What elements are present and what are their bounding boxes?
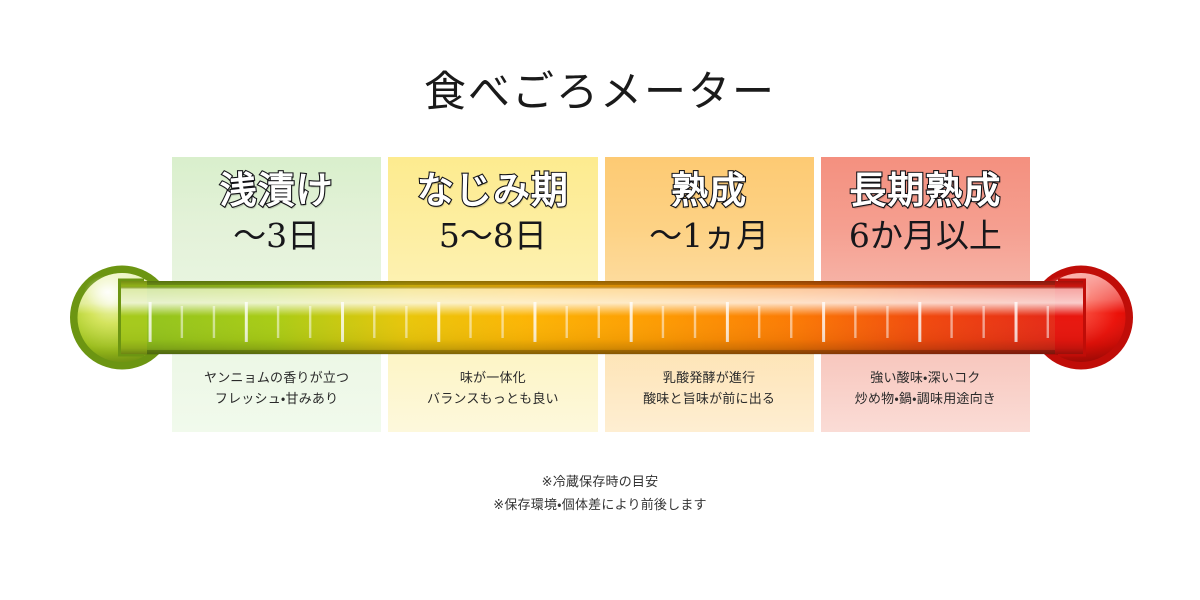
stage-description-line1: 強い酸味・深いコク: [821, 368, 1030, 389]
tube-right-neck: [1055, 279, 1086, 357]
thermometer-right-bulb: [1029, 266, 1133, 370]
stage-duration: ～1ヵ月: [605, 218, 814, 255]
stage-panel-jukusei: 熟成 ～1ヵ月 乳酸発酵が進行 酸味と旨味が前に出る: [605, 157, 814, 432]
stage-name: 浅漬け: [172, 169, 381, 213]
stage-panel-header: 熟成 ～1ヵ月: [605, 157, 814, 255]
stage-name: なじみ期: [388, 169, 597, 213]
stage-duration: 5～8日: [388, 218, 597, 255]
right-bulb-specular-highlight: [1043, 275, 1091, 309]
page-title: 食べごろメーター: [0, 58, 1200, 119]
footnotes: ※冷蔵保存時の目安 ※保存環境・個体差により前後します: [0, 472, 1200, 518]
stage-description-line1: ヤンニョムの香りが立つ: [172, 368, 381, 389]
infographic-root: 食べごろメーター 浅漬け ～3日 ヤンニョムの香りが立つ フレッシュ・甘みあり …: [0, 0, 1200, 600]
stage-description: 味が一体化 バランスもっとも良い: [388, 368, 597, 410]
stage-description-line2: フレッシュ・甘みあり: [172, 389, 381, 410]
stage-name: 熟成: [605, 169, 814, 213]
thermometer-left-bulb: [70, 266, 174, 370]
footnote-line1: ※冷蔵保存時の目安: [0, 472, 1200, 495]
tube-left-neck: [118, 279, 147, 357]
stage-description: 強い酸味・深いコク 炒め物・鍋・調味用途向き: [821, 368, 1030, 410]
left-bulb-specular-highlight: [84, 275, 132, 309]
stage-description-line2: 酸味と旨味が前に出る: [605, 389, 814, 410]
stage-panel-header: 浅漬け ～3日: [172, 157, 381, 255]
stage-description: 乳酸発酵が進行 酸味と旨味が前に出る: [605, 368, 814, 410]
stage-duration: ～3日: [172, 218, 381, 255]
tube-tick: [1047, 306, 1049, 338]
stage-description: ヤンニョムの香りが立つ フレッシュ・甘みあり: [172, 368, 381, 410]
stage-description-line2: バランスもっとも良い: [388, 389, 597, 410]
stage-name: 長期熟成: [821, 169, 1030, 213]
stage-panel-header: なじみ期 5～8日: [388, 157, 597, 255]
tube-tick: [149, 302, 152, 342]
stage-panel-header: 長期熟成 6か月以上: [821, 157, 1030, 255]
stage-description-line1: 味が一体化: [388, 368, 597, 389]
stage-panel-chouki-jukusei: 長期熟成 6か月以上 強い酸味・深いコク 炒め物・鍋・調味用途向き: [821, 157, 1030, 432]
stage-description-line2: 炒め物・鍋・調味用途向き: [821, 389, 1030, 410]
stage-panel-najimiki: なじみ期 5～8日 味が一体化 バランスもっとも良い: [388, 157, 597, 432]
stage-description-line1: 乳酸発酵が進行: [605, 368, 814, 389]
stage-panel-group: 浅漬け ～3日 ヤンニョムの香りが立つ フレッシュ・甘みあり なじみ期 5～8日…: [172, 157, 1030, 432]
footnote-line2: ※保存環境・個体差により前後します: [0, 495, 1200, 518]
stage-panel-asazuke: 浅漬け ～3日 ヤンニョムの香りが立つ フレッシュ・甘みあり: [172, 157, 381, 432]
stage-duration: 6か月以上: [821, 218, 1030, 255]
